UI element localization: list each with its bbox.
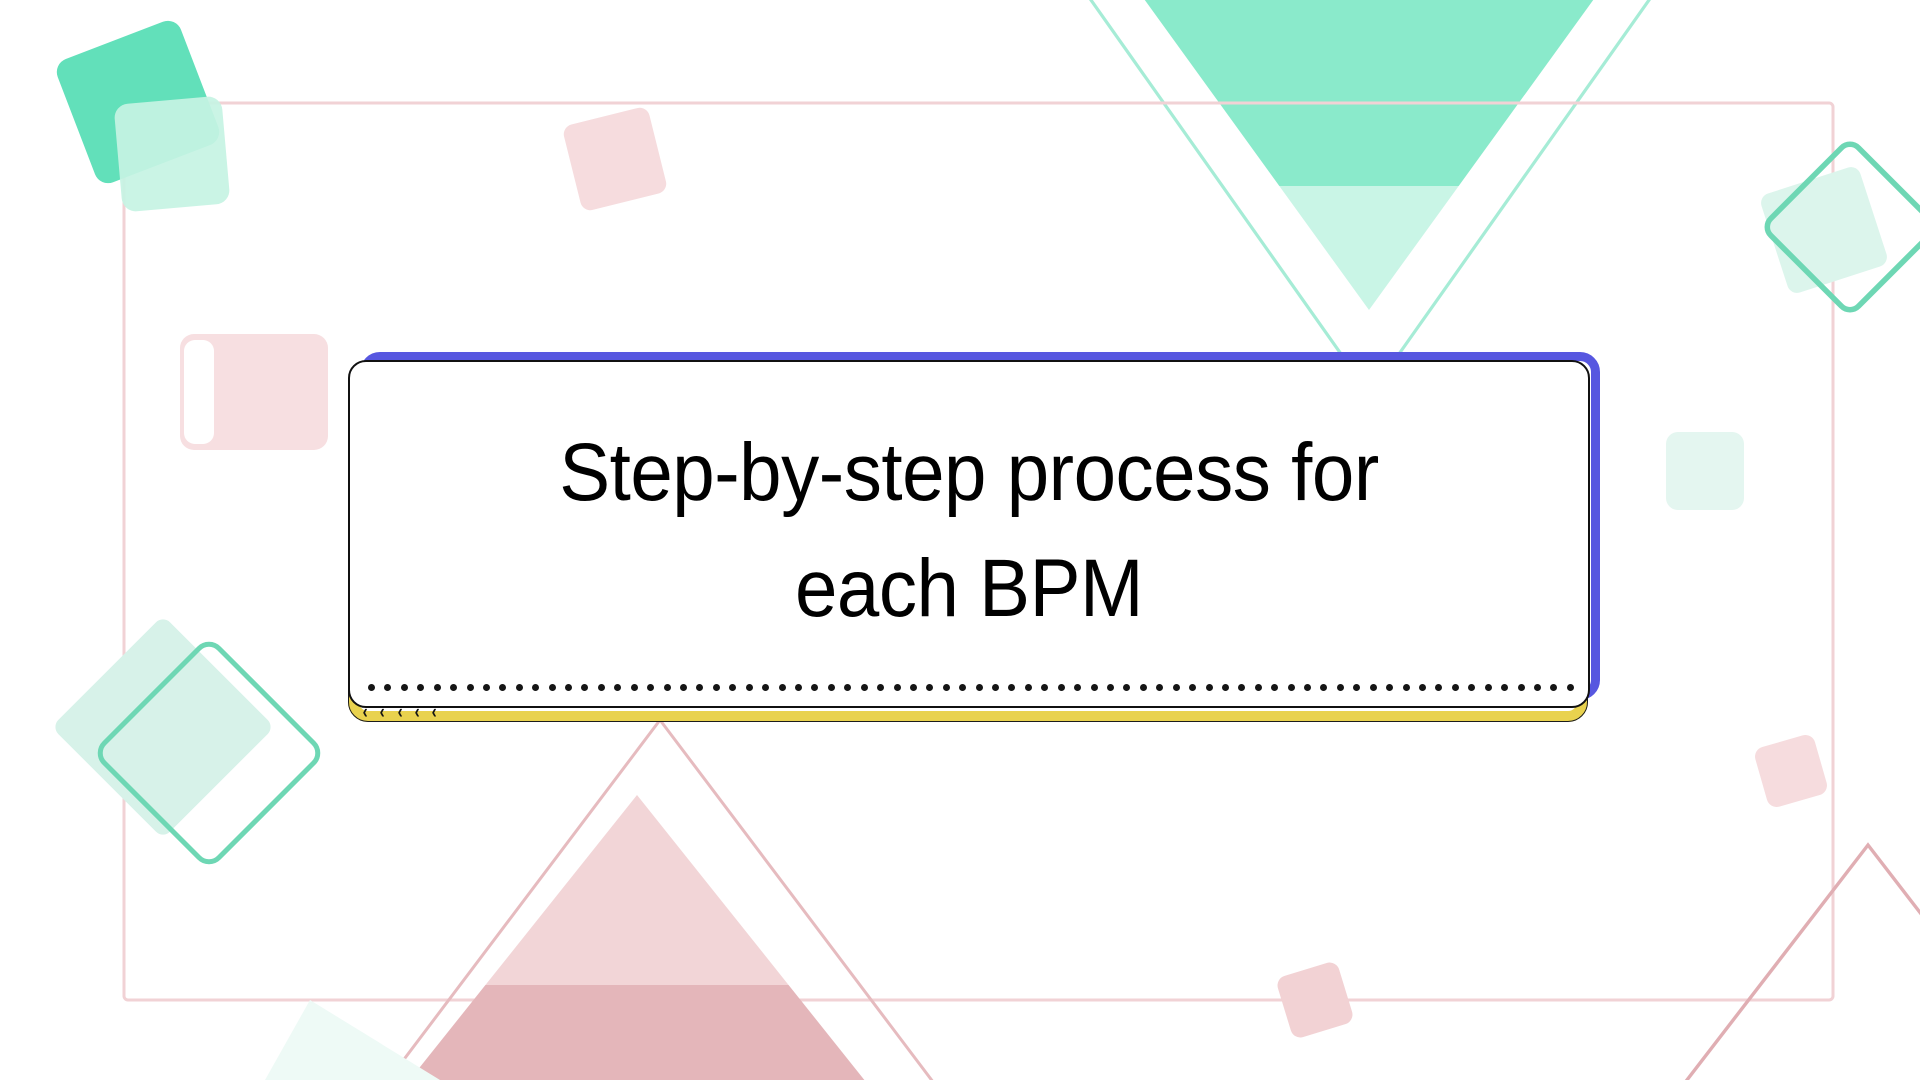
dot-mark bbox=[746, 684, 753, 691]
mint-wedge-bottom-left bbox=[265, 1000, 440, 1080]
dot-mark bbox=[1370, 684, 1377, 691]
dot-mark bbox=[417, 684, 424, 691]
dot-mark bbox=[581, 684, 588, 691]
dot-mark bbox=[1386, 684, 1393, 691]
card-title-line-2: each BPM bbox=[476, 531, 1462, 647]
dot-mark bbox=[959, 684, 966, 691]
dot-mark bbox=[713, 684, 720, 691]
dot-mark bbox=[532, 684, 539, 691]
card-title-text: Step-by-step process foreach BPM bbox=[476, 415, 1462, 648]
dot-mark bbox=[1435, 684, 1442, 691]
mint-triangle-outline-top bbox=[985, 0, 1755, 395]
dot-mark bbox=[1156, 684, 1163, 691]
dot-mark bbox=[368, 684, 375, 691]
chevron-left-icon: ‹ bbox=[397, 703, 402, 722]
mint-diamond-outline-top-right bbox=[1762, 139, 1920, 314]
dot-mark bbox=[762, 684, 769, 691]
dot-mark bbox=[894, 684, 901, 691]
dot-mark bbox=[1140, 684, 1147, 691]
pink-triangle-outline-bottom bbox=[230, 720, 1090, 1080]
chevron-left-icon: ‹ bbox=[363, 703, 368, 722]
dot-mark bbox=[1534, 684, 1541, 691]
dot-mark bbox=[1238, 684, 1245, 691]
card-dotted-rule bbox=[368, 683, 1574, 692]
dot-mark bbox=[1485, 684, 1492, 691]
dot-mark bbox=[1550, 684, 1557, 691]
dot-mark bbox=[516, 684, 523, 691]
pink-triangle-filled-bottom bbox=[274, 795, 1000, 1080]
dot-mark bbox=[1206, 684, 1213, 691]
dot-mark bbox=[1271, 684, 1278, 691]
dot-mark bbox=[1501, 684, 1508, 691]
card-chevron-marks: ‹‹‹‹‹ bbox=[362, 701, 512, 723]
dot-mark bbox=[1403, 684, 1410, 691]
dot-mark bbox=[1025, 684, 1032, 691]
dot-mark bbox=[976, 684, 983, 691]
mint-diamond-outline-bottom-left bbox=[94, 638, 323, 867]
green-rounded-square-top-left bbox=[53, 17, 224, 188]
dot-mark bbox=[729, 684, 736, 691]
dot-mark bbox=[779, 684, 786, 691]
mint-rounded-square-right bbox=[1666, 432, 1744, 510]
dot-mark bbox=[434, 684, 441, 691]
dot-mark bbox=[1518, 684, 1525, 691]
dot-mark bbox=[467, 684, 474, 691]
dot-mark bbox=[384, 684, 391, 691]
card-title-line-1: Step-by-step process for bbox=[476, 415, 1462, 531]
dot-mark bbox=[1123, 684, 1130, 691]
dot-mark bbox=[499, 684, 506, 691]
dot-mark bbox=[565, 684, 572, 691]
card-surface: Step-by-step process foreach BPM bbox=[348, 360, 1590, 708]
pink-triangle-outline-bottom-right bbox=[1556, 845, 1920, 1080]
dot-mark bbox=[614, 684, 621, 691]
dot-mark bbox=[943, 684, 950, 691]
pink-rounded-square-top bbox=[562, 106, 669, 213]
dot-mark bbox=[664, 684, 671, 691]
dot-mark bbox=[861, 684, 868, 691]
dot-mark bbox=[1468, 684, 1475, 691]
slide-canvas: Step-by-step process foreach BPM ‹‹‹‹‹ bbox=[0, 0, 1920, 1080]
dot-mark bbox=[1419, 684, 1426, 691]
dot-mark bbox=[1107, 684, 1114, 691]
dot-mark bbox=[647, 684, 654, 691]
dot-mark bbox=[401, 684, 408, 691]
chevron-left-icon: ‹ bbox=[415, 703, 420, 722]
dot-mark bbox=[926, 684, 933, 691]
dot-mark bbox=[828, 684, 835, 691]
mint-triangle-filled-top bbox=[1058, 0, 1680, 310]
dot-mark bbox=[992, 684, 999, 691]
dot-mark bbox=[1189, 684, 1196, 691]
mint-diamond-filled-bottom-left bbox=[51, 615, 274, 838]
pink-rounded-square-bottom bbox=[1275, 960, 1355, 1040]
dot-mark bbox=[811, 684, 818, 691]
dot-mark bbox=[1452, 684, 1459, 691]
dot-mark bbox=[1074, 684, 1081, 691]
dot-mark bbox=[1173, 684, 1180, 691]
chevron-left-icon: ‹ bbox=[432, 703, 437, 722]
dot-mark bbox=[1304, 684, 1311, 691]
dot-mark bbox=[844, 684, 851, 691]
pink-rounded-rect-left bbox=[180, 334, 328, 450]
dot-mark bbox=[598, 684, 605, 691]
mint-square-top-right bbox=[1758, 164, 1889, 295]
dot-mark bbox=[1567, 684, 1574, 691]
dot-mark bbox=[549, 684, 556, 691]
dot-mark bbox=[1091, 684, 1098, 691]
green-rounded-square-top-left-overlap bbox=[113, 95, 230, 212]
chevron-left-icon: ‹ bbox=[380, 703, 385, 722]
dot-mark bbox=[696, 684, 703, 691]
white-rounded-rect-left-overlap bbox=[184, 340, 214, 444]
dot-mark bbox=[1288, 684, 1295, 691]
dot-mark bbox=[910, 684, 917, 691]
dot-mark bbox=[1058, 684, 1065, 691]
dot-mark bbox=[1008, 684, 1015, 691]
dot-mark bbox=[1041, 684, 1048, 691]
dot-mark bbox=[1320, 684, 1327, 691]
dot-mark bbox=[1337, 684, 1344, 691]
pink-rounded-square-right bbox=[1753, 733, 1830, 810]
dot-mark bbox=[877, 684, 884, 691]
dot-mark bbox=[450, 684, 457, 691]
dot-mark bbox=[631, 684, 638, 691]
title-card: Step-by-step process foreach BPM ‹‹‹‹‹ bbox=[348, 352, 1608, 742]
dot-mark bbox=[795, 684, 802, 691]
dot-mark bbox=[483, 684, 490, 691]
dot-mark bbox=[1353, 684, 1360, 691]
dot-mark bbox=[1222, 684, 1229, 691]
dot-mark bbox=[1255, 684, 1262, 691]
dot-mark bbox=[680, 684, 687, 691]
